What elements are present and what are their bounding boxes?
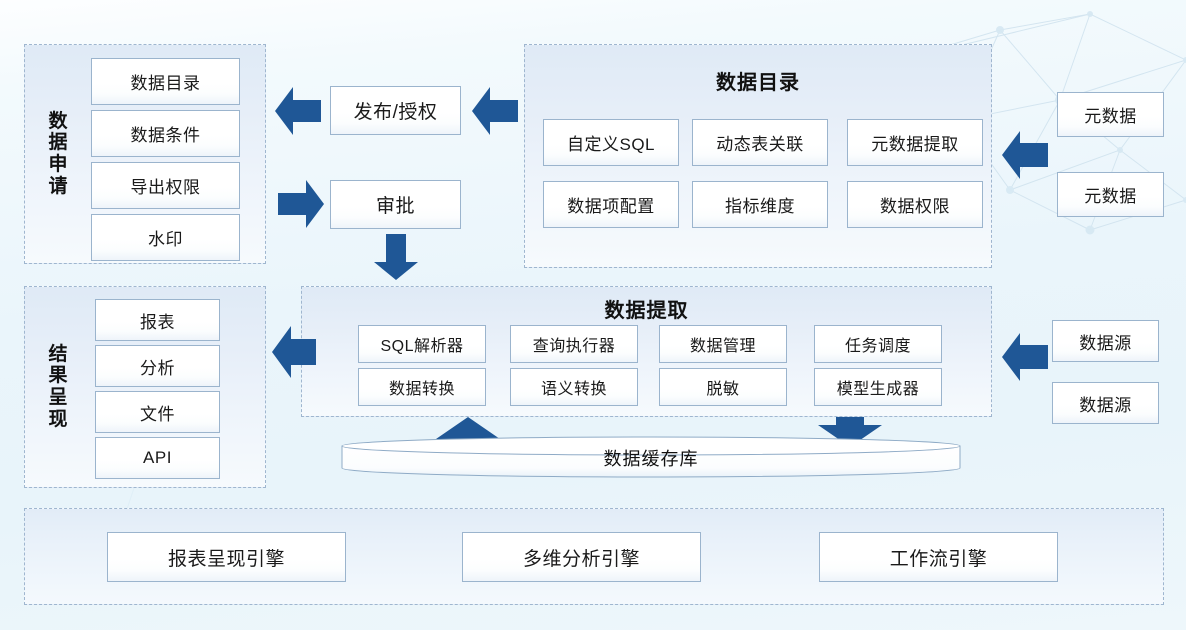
data-catalog-item-2[interactable]: 元数据提取 bbox=[847, 119, 983, 166]
panel-result-label-char-1: 果 bbox=[48, 365, 67, 387]
result-presentation-item-2[interactable]: 文件 bbox=[95, 391, 220, 433]
data-extraction-item-7[interactable]: 模型生成器 bbox=[814, 368, 942, 406]
data-catalog-item-4[interactable]: 指标维度 bbox=[692, 181, 828, 228]
data-extraction-item-1[interactable]: 查询执行器 bbox=[510, 325, 638, 363]
metadata-box-0[interactable]: 元数据 bbox=[1057, 92, 1164, 137]
cache-cylinder: 数据缓存库 bbox=[341, 436, 961, 478]
arrow-approval-to-extraction bbox=[372, 234, 420, 280]
panel-data-catalog-title: 数据目录 bbox=[524, 66, 992, 95]
arrow-catalog-to-publish bbox=[472, 85, 518, 137]
data-extraction-item-5[interactable]: 语义转换 bbox=[510, 368, 638, 406]
data-catalog-item-3[interactable]: 数据项配置 bbox=[543, 181, 679, 228]
data-catalog-item-1[interactable]: 动态表关联 bbox=[692, 119, 828, 166]
panel-result-presentation-label: 结 果 呈 现 bbox=[32, 294, 84, 480]
data-extraction-item-4[interactable]: 数据转换 bbox=[358, 368, 486, 406]
data-request-item-3[interactable]: 水印 bbox=[91, 214, 240, 261]
arrow-publish-to-request bbox=[275, 85, 321, 137]
panel-data-request-label-char-1: 据 bbox=[48, 132, 67, 154]
datasource-box-1[interactable]: 数据源 bbox=[1052, 382, 1159, 424]
data-catalog-item-0[interactable]: 自定义SQL bbox=[543, 119, 679, 166]
publish-authorize-box[interactable]: 发布/授权 bbox=[330, 86, 461, 135]
panel-data-extraction-title: 数据提取 bbox=[301, 294, 992, 323]
result-presentation-item-0[interactable]: 报表 bbox=[95, 299, 220, 341]
approval-box[interactable]: 审批 bbox=[330, 180, 461, 229]
engine-item-2[interactable]: 工作流引擎 bbox=[819, 532, 1058, 582]
result-presentation-item-3[interactable]: API bbox=[95, 437, 220, 479]
data-request-item-0[interactable]: 数据目录 bbox=[91, 58, 240, 105]
engine-item-0[interactable]: 报表呈现引擎 bbox=[107, 532, 346, 582]
result-presentation-item-1[interactable]: 分析 bbox=[95, 345, 220, 387]
panel-data-request-label-char-2: 申 bbox=[48, 154, 67, 176]
diagram-canvas: 数 据 申 请 数据目录 数据条件 导出权限 水印 结 果 呈 现 报表 分析 … bbox=[0, 0, 1186, 630]
data-extraction-item-2[interactable]: 数据管理 bbox=[659, 325, 787, 363]
arrow-metadata-to-catalog bbox=[1002, 128, 1048, 182]
cache-cylinder-label: 数据缓存库 bbox=[341, 445, 961, 471]
data-extraction-item-3[interactable]: 任务调度 bbox=[814, 325, 942, 363]
arrow-extraction-to-result bbox=[272, 323, 316, 381]
datasource-box-0[interactable]: 数据源 bbox=[1052, 320, 1159, 362]
data-catalog-item-5[interactable]: 数据权限 bbox=[847, 181, 983, 228]
data-request-item-2[interactable]: 导出权限 bbox=[91, 162, 240, 209]
data-request-item-1[interactable]: 数据条件 bbox=[91, 110, 240, 157]
data-extraction-item-6[interactable]: 脱敏 bbox=[659, 368, 787, 406]
panel-data-request-label-char-3: 请 bbox=[48, 176, 67, 198]
panel-result-label-char-2: 呈 bbox=[48, 387, 67, 409]
arrow-datasource-to-extraction bbox=[1002, 330, 1048, 384]
panel-data-request-label-char-0: 数 bbox=[48, 111, 67, 133]
panel-result-label-char-0: 结 bbox=[48, 344, 67, 366]
panel-data-request-label: 数 据 申 请 bbox=[32, 52, 84, 256]
metadata-box-1[interactable]: 元数据 bbox=[1057, 172, 1164, 217]
engine-item-1[interactable]: 多维分析引擎 bbox=[462, 532, 701, 582]
panel-result-label-char-3: 现 bbox=[48, 409, 67, 431]
arrow-request-to-approval bbox=[278, 178, 324, 230]
data-extraction-item-0[interactable]: SQL解析器 bbox=[358, 325, 486, 363]
